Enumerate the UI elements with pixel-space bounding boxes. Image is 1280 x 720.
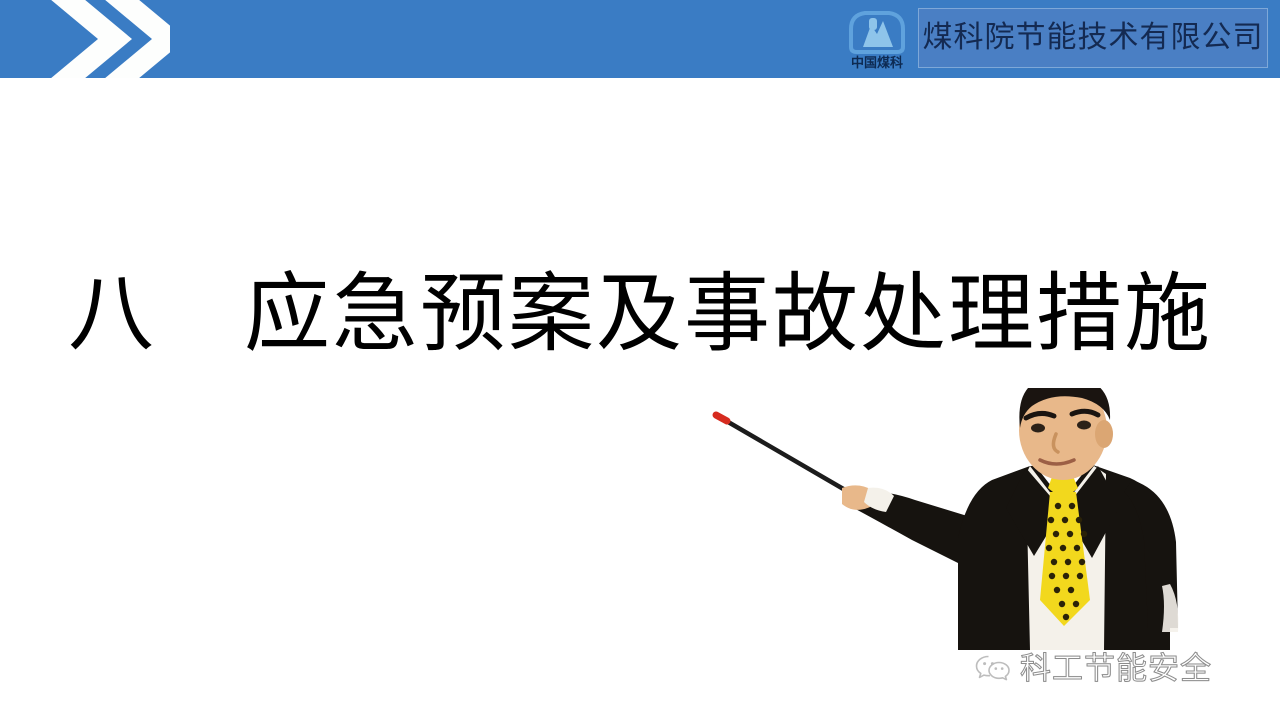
watermark-label: 科工节能安全 — [1020, 654, 1212, 685]
header-bar: 中国煤科 煤科院节能技术有限公司 — [0, 0, 1280, 78]
slide-title: 八 应急预案及事故处理措施 — [68, 266, 1212, 362]
slide-canvas: 中国煤科 煤科院节能技术有限公司 八 应急预案及事故处理措施 — [0, 0, 1280, 720]
company-name-box[interactable]: 煤科院节能技术有限公司 — [918, 8, 1268, 68]
svg-text:中国煤科: 中国煤科 — [851, 55, 903, 71]
title-container: 八 应急预案及事故处理措施 — [0, 266, 1280, 362]
presenter-figure — [700, 388, 1260, 650]
company-name-label: 煤科院节能技术有限公司 — [923, 23, 1264, 53]
watermark: 科工节能安全 — [975, 648, 1212, 690]
zhongguo-meike-logo-icon: 中国煤科 — [841, 7, 913, 71]
double-chevron-right-icon — [40, 0, 170, 78]
wechat-icon — [975, 654, 1011, 684]
